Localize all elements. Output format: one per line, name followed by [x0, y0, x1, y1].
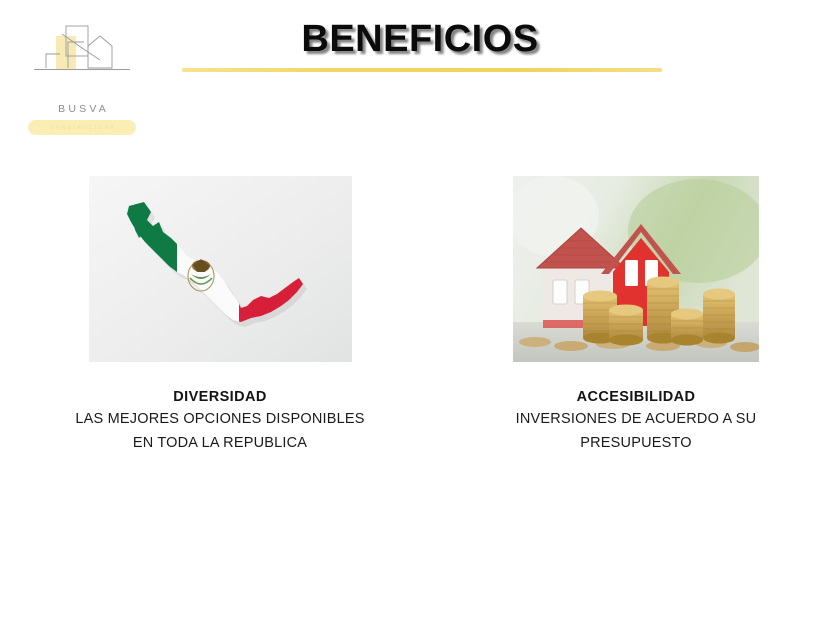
- benefit-caption-diversidad: DIVERSIDAD LAS MEJORES OPCIONES DISPONIB…: [28, 386, 412, 455]
- logo-tagline-pill: CONSTRUCTORA: [28, 120, 136, 135]
- mexico-map-flag-image: [89, 176, 352, 362]
- logo-tagline-text: CONSTRUCTORA: [49, 125, 116, 131]
- house-coins-image: [513, 176, 759, 362]
- benefit-line-1: INVERSIONES DE ACUERDO A SU: [460, 408, 812, 431]
- benefit-line-2: EN TODA LA REPUBLICA: [28, 432, 412, 455]
- benefit-caption-accesibilidad: ACCESIBILIDAD INVERSIONES DE ACUERDO A S…: [460, 386, 812, 455]
- title-underline-rule: [182, 68, 662, 72]
- benefit-line-2: PRESUPUESTO: [460, 432, 812, 455]
- page-title: BENEFICIOS: [0, 18, 840, 61]
- benefit-column-diversidad: DIVERSIDAD LAS MEJORES OPCIONES DISPONIB…: [28, 176, 412, 455]
- benefit-line-1: LAS MEJORES OPCIONES DISPONIBLES: [28, 408, 412, 431]
- benefit-heading: DIVERSIDAD: [28, 386, 412, 408]
- logo-company-name: BUSVA: [26, 103, 138, 115]
- slide-beneficios: BUSVA CONSTRUCTORA BENEFICIOS: [0, 0, 840, 630]
- benefit-column-accesibilidad: ACCESIBILIDAD INVERSIONES DE ACUERDO A S…: [460, 176, 812, 455]
- benefit-heading: ACCESIBILIDAD: [460, 386, 812, 408]
